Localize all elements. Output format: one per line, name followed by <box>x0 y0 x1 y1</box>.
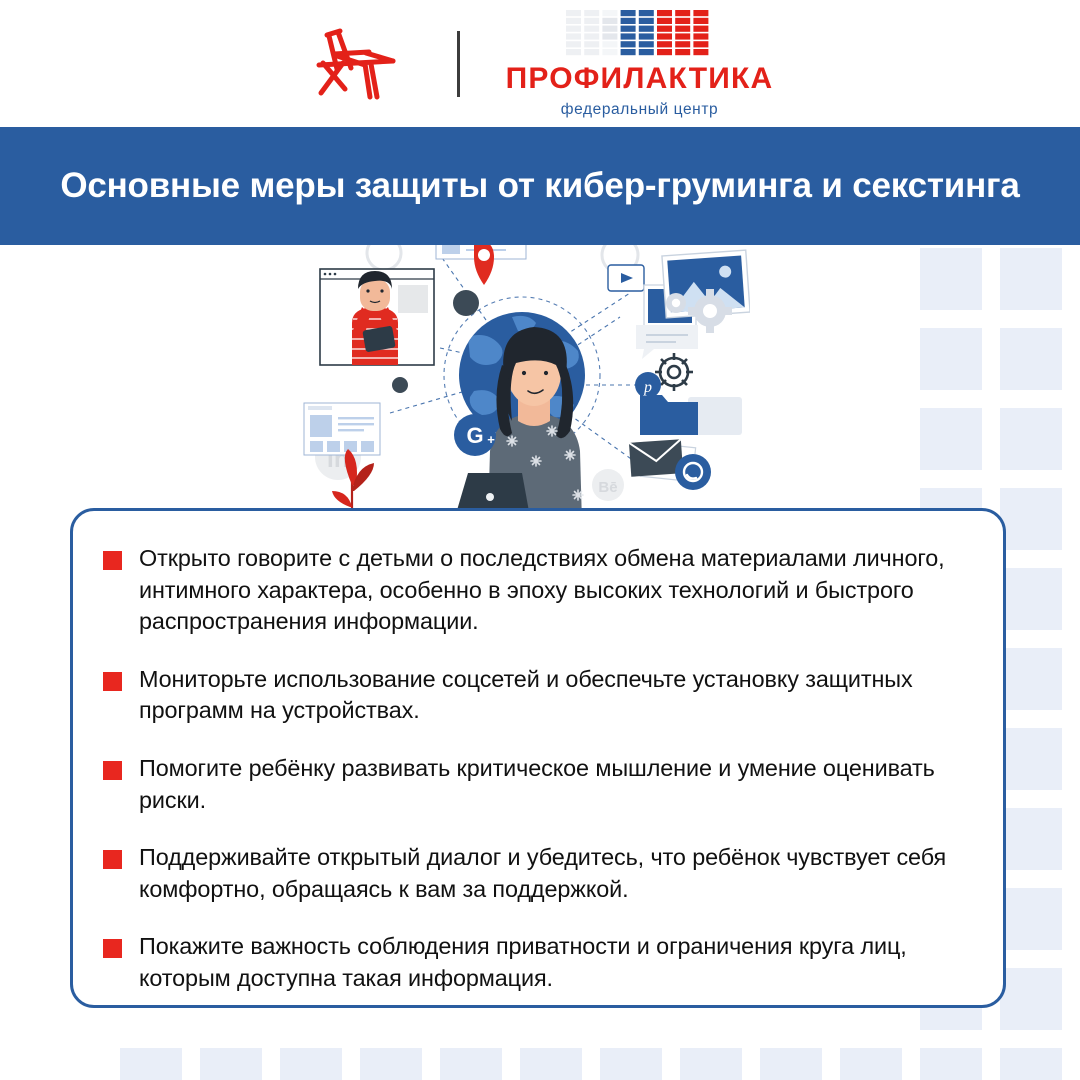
web-page-card-icon <box>304 403 380 455</box>
checker-cell <box>520 1048 582 1080</box>
flag-grid-cell <box>675 49 690 55</box>
checker-cell <box>760 1048 822 1080</box>
checker-cell <box>1000 408 1062 470</box>
flag-grid-cell <box>693 18 708 24</box>
pinterest-icon: p <box>635 372 661 398</box>
flag-grid-cell <box>638 10 653 16</box>
page-title: Основные меры защиты от кибер-груминга и… <box>60 164 1019 208</box>
bullet-text: Поддерживайте открытый диалог и убедитес… <box>139 842 965 905</box>
flag-grid-cell <box>693 10 708 16</box>
flag-grid-cell <box>657 25 672 31</box>
svg-text:+: + <box>487 432 495 447</box>
google-plus-icon: G + <box>454 414 496 456</box>
checker-cell <box>920 248 982 310</box>
brand-header: ПРОФИЛАКТИКА федеральный центр <box>0 0 1080 127</box>
svg-text:p: p <box>643 379 652 396</box>
flag-grid-cell <box>638 33 653 39</box>
checker-cell <box>1000 488 1062 550</box>
bullet-square-icon <box>103 761 122 780</box>
folder-icon <box>640 395 742 435</box>
flag-grid-cell <box>638 41 653 47</box>
logo-divider <box>457 31 460 97</box>
bullet-text: Открыто говорите с детьми о последствиях… <box>139 543 965 638</box>
flag-grid-icon <box>566 10 714 56</box>
flag-grid-cell <box>566 10 581 16</box>
map-pin-icon <box>474 245 494 285</box>
bullet-text: Помогите ребёнку развивать критическое м… <box>139 753 965 816</box>
flag-grid-cell <box>657 18 672 24</box>
chair-line-art-icon <box>307 21 411 107</box>
checker-cell <box>120 1048 182 1080</box>
video-play-icon <box>608 265 644 291</box>
checker-cell <box>600 1048 662 1080</box>
flag-grid-cell <box>584 33 599 39</box>
checker-cell <box>1000 728 1062 790</box>
flag-grid-cell <box>693 25 708 31</box>
flag-grid-cell <box>584 10 599 16</box>
flag-grid-cell <box>675 18 690 24</box>
chat-bubble-icon <box>636 325 698 359</box>
flag-grid-cell <box>620 25 635 31</box>
flag-grid-cell <box>638 18 653 24</box>
checker-cell <box>1000 968 1062 1030</box>
checker-cell <box>680 1048 742 1080</box>
flag-grid-cell <box>657 49 672 55</box>
behance-icon: Bē <box>592 469 624 501</box>
bullet-square-icon <box>103 672 122 691</box>
browser-window-with-man-icon <box>320 269 434 365</box>
recommendations-card: Открыто говорите с детьми о последствиях… <box>70 508 1006 1008</box>
brand-block: ПРОФИЛАКТИКА федеральный центр <box>506 10 774 118</box>
infographic-poster: ПРОФИЛАКТИКА федеральный центр Основные … <box>0 0 1080 1080</box>
checker-cell <box>1000 328 1062 390</box>
flag-grid-cell <box>566 25 581 31</box>
flag-grid-cell <box>675 10 690 16</box>
checker-cell <box>920 1048 982 1080</box>
flag-grid-cell <box>584 49 599 55</box>
flag-grid-cell <box>693 41 708 47</box>
flag-grid-cell <box>693 49 708 55</box>
checker-cell <box>920 408 982 470</box>
flag-grid-cell <box>675 25 690 31</box>
flag-grid-cell <box>602 25 617 31</box>
list-item: Поддерживайте открытый диалог и убедитес… <box>103 842 965 905</box>
decor-circle-icon <box>367 245 401 270</box>
flag-grid-cell <box>620 33 635 39</box>
checker-cell <box>840 1048 902 1080</box>
checker-cell <box>1000 888 1062 950</box>
flag-grid-cell <box>675 41 690 47</box>
flag-grid-cell <box>566 18 581 24</box>
flag-grid-cell <box>620 49 635 55</box>
checker-cell <box>920 328 982 390</box>
bullet-text: Мониторьте использование соцсетей и обес… <box>139 664 965 727</box>
flag-grid-cell <box>638 25 653 31</box>
checker-cell <box>1000 648 1062 710</box>
bullet-square-icon <box>103 850 122 869</box>
checker-cell <box>280 1048 342 1080</box>
flag-grid-cell <box>602 18 617 24</box>
brand-subtitle: федеральный центр <box>561 102 719 118</box>
flag-grid-cell <box>638 49 653 55</box>
flag-grid-cell <box>566 33 581 39</box>
checker-cell <box>1000 1048 1062 1080</box>
list-item: Мониторьте использование соцсетей и обес… <box>103 664 965 727</box>
flag-grid-cell <box>657 33 672 39</box>
flag-grid-cell <box>584 25 599 31</box>
list-item: Покажите важность соблюдения приватности… <box>103 931 965 994</box>
checker-cell <box>1000 808 1062 870</box>
brand-name: ПРОФИЛАКТИКА <box>506 64 774 94</box>
flag-grid-cell <box>602 10 617 16</box>
flag-grid-cell <box>602 49 617 55</box>
bullet-square-icon <box>103 551 122 570</box>
flag-grid-cell <box>675 33 690 39</box>
whatsapp-icon <box>675 454 711 490</box>
flag-grid-cell <box>566 41 581 47</box>
flag-grid-cell <box>602 41 617 47</box>
list-item: Помогите ребёнку развивать критическое м… <box>103 753 965 816</box>
checker-cell <box>200 1048 262 1080</box>
svg-text:Bē: Bē <box>598 479 617 496</box>
flag-grid-cell <box>620 41 635 47</box>
checker-cell <box>440 1048 502 1080</box>
flag-grid-cell <box>566 49 581 55</box>
checker-cell <box>360 1048 422 1080</box>
flag-grid-cell <box>620 18 635 24</box>
flag-grid-cell <box>620 10 635 16</box>
bullet-text: Покажите важность соблюдения приватности… <box>139 931 965 994</box>
flag-grid-cell <box>657 10 672 16</box>
checker-cell <box>1000 568 1062 630</box>
flag-grid-cell <box>693 33 708 39</box>
online-communication-illustration: G + in p Bē <box>290 245 750 523</box>
svg-text:G: G <box>466 423 483 448</box>
bullet-square-icon <box>103 939 122 958</box>
flag-grid-cell <box>584 41 599 47</box>
title-banner: Основные меры защиты от кибер-груминга и… <box>0 127 1080 245</box>
flag-grid-cell <box>657 41 672 47</box>
flag-grid-cell <box>584 18 599 24</box>
checker-cell <box>1000 248 1062 310</box>
flag-grid-cell <box>602 33 617 39</box>
list-item: Открыто говорите с детьми о последствиях… <box>103 543 965 638</box>
